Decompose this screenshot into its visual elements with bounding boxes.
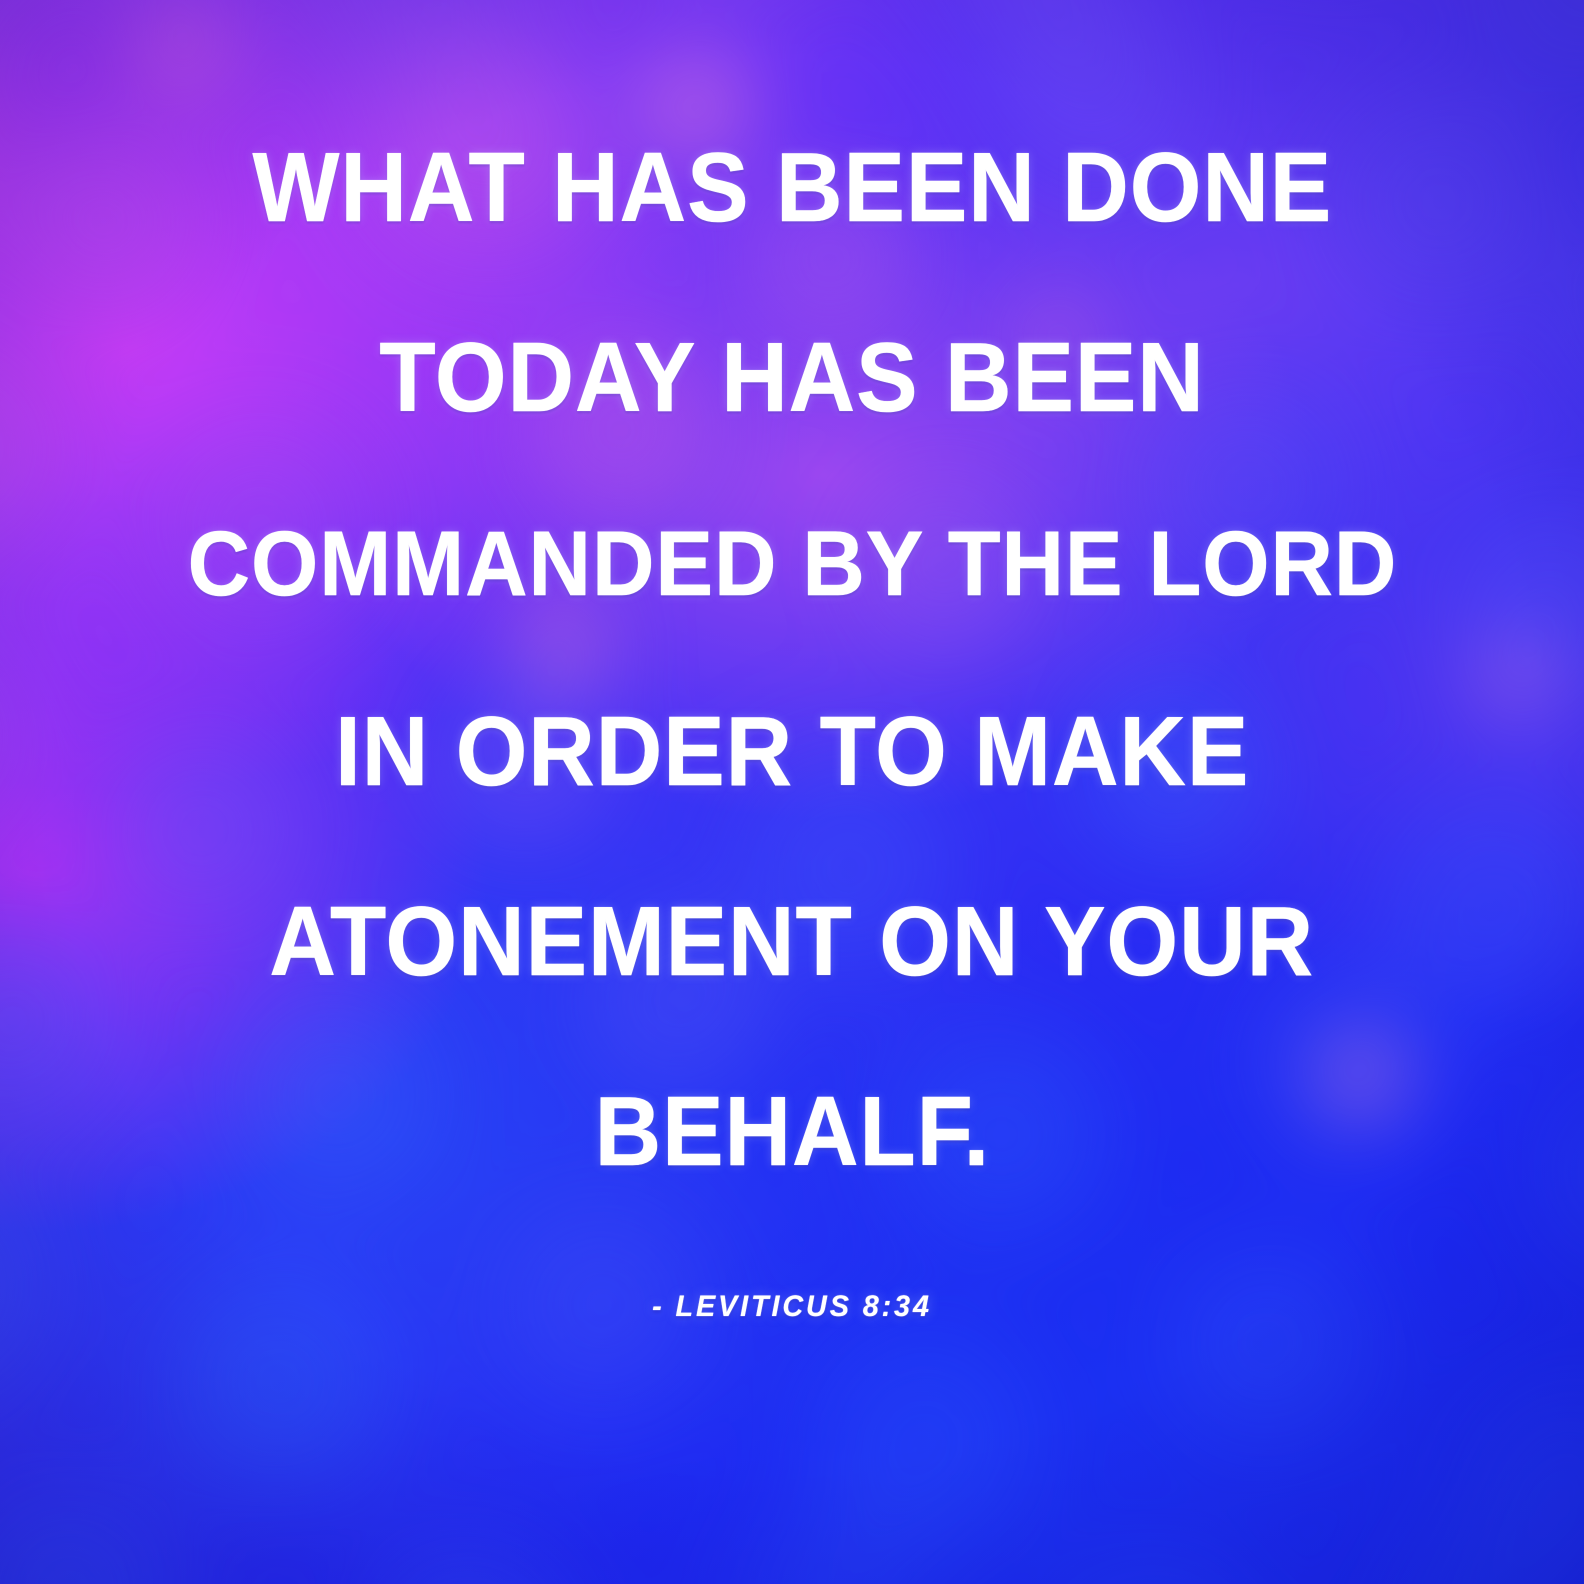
verse-line-2: TODAY HAS BEEN: [379, 328, 1204, 426]
quote-image-canvas: WHAT HAS BEEN DONE TODAY HAS BEEN COMMAN…: [0, 0, 1584, 1584]
verse-text-block: WHAT HAS BEEN DONE TODAY HAS BEEN COMMAN…: [0, 0, 1584, 1584]
verse-attribution: - LEVITICUS 8:34: [32, 1290, 1553, 1324]
verse-line-6: BEHALF.: [594, 1082, 990, 1180]
verse-line-1: WHAT HAS BEEN DONE: [252, 138, 1332, 236]
verse-line-5: ATONEMENT ON YOUR: [270, 892, 1315, 990]
verse-line-4: IN ORDER TO MAKE: [335, 702, 1249, 800]
verse-line-3: COMMANDED BY THE LORD: [187, 518, 1397, 610]
